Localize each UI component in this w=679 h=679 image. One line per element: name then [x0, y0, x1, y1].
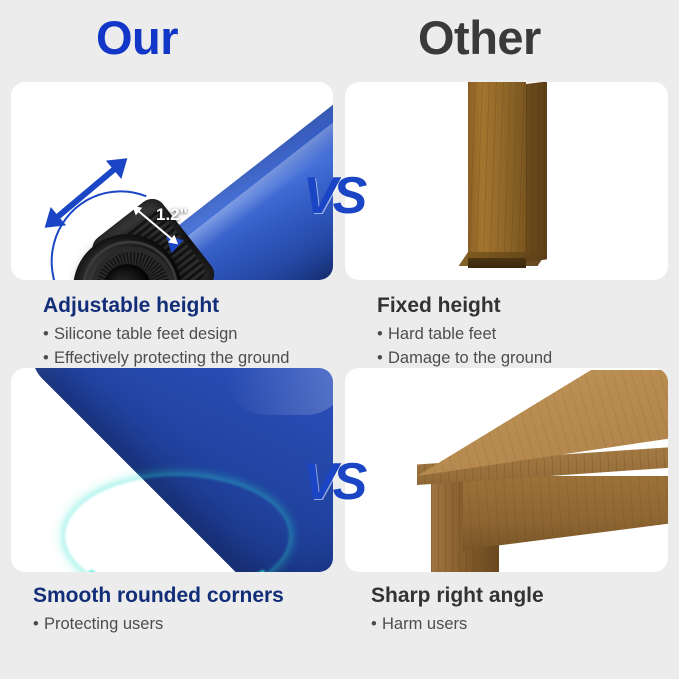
bullet-dot-icon: •	[377, 346, 388, 370]
bullet-dot-icon: •	[43, 322, 54, 346]
card-ours-adjustable-height: 1.2"	[11, 82, 333, 280]
bullet-dot-icon: •	[33, 612, 44, 636]
vs-badge-row-1: VS	[303, 170, 362, 222]
title-ours-row-2: Smooth rounded corners	[33, 582, 343, 609]
image-adjustable-foot: 1.2"	[11, 82, 333, 280]
card-ours-rounded-corners	[11, 368, 333, 572]
list-item: •Hard table feet	[377, 322, 669, 346]
wooden-leg-side-face	[526, 82, 547, 262]
title-other-row-1: Fixed height	[377, 292, 669, 319]
list-item: •Silicone table feet design	[43, 322, 343, 346]
vs-badge-row-2: VS	[303, 456, 362, 508]
wooden-leg-base	[468, 258, 526, 268]
text-ours-adjustable-height: Adjustable height •Silicone table feet d…	[43, 292, 343, 370]
list-item-label: Silicone table feet design	[54, 325, 237, 343]
corner-highlight	[227, 368, 333, 415]
title-ours-row-1: Adjustable height	[43, 292, 343, 319]
list-item-label: Damage to the ground	[388, 349, 552, 367]
text-other-sharp-angle: Sharp right angle •Harm users	[371, 582, 669, 636]
list-item-label: Hard table feet	[388, 325, 496, 343]
list-item-label: Protecting users	[44, 615, 163, 633]
bullet-dot-icon: •	[43, 346, 54, 370]
bullets-ours-row-1: •Silicone table feet design •Effectively…	[43, 322, 343, 370]
text-other-fixed-height: Fixed height •Hard table feet •Damage to…	[377, 292, 669, 370]
bullets-ours-row-2: •Protecting users	[33, 612, 343, 636]
list-item: •Effectively protecting the ground	[43, 346, 343, 370]
list-item-label: Harm users	[382, 615, 467, 633]
list-item: •Damage to the ground	[377, 346, 669, 370]
bullets-other-row-1: •Hard table feet •Damage to the ground	[377, 322, 669, 370]
bullets-other-row-2: •Harm users	[371, 612, 669, 636]
heading-ours: Our	[96, 8, 178, 68]
list-item: •Protecting users	[33, 612, 343, 636]
heading-other: Other	[418, 8, 541, 68]
wooden-leg-front-face	[468, 82, 526, 260]
wooden-table-apron	[463, 476, 668, 550]
title-other-row-2: Sharp right angle	[371, 582, 669, 609]
list-item: •Harm users	[371, 612, 669, 636]
bullet-dot-icon: •	[377, 322, 388, 346]
card-other-sharp-angle	[345, 368, 668, 572]
text-ours-rounded-corners: Smooth rounded corners •Protecting users	[33, 582, 343, 636]
card-other-fixed-height	[345, 82, 668, 280]
bullet-dot-icon: •	[371, 612, 382, 636]
dimension-label: 1.2"	[156, 205, 188, 225]
comparison-infographic: Our Other 1.2"	[0, 0, 679, 679]
list-item-label: Effectively protecting the ground	[54, 349, 289, 367]
